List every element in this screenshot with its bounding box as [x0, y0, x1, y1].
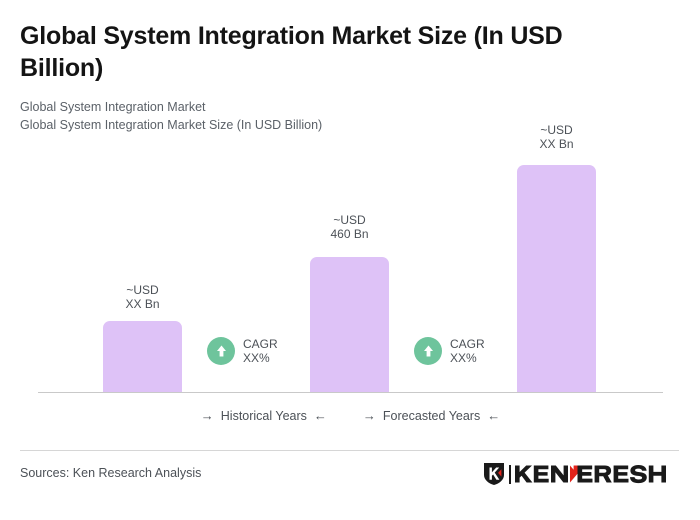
bar-value-label-2-line2: 460 Bn	[310, 227, 389, 241]
bar-value-label-2-line1: ~USD	[310, 213, 389, 227]
bar-1[interactable]	[103, 321, 182, 392]
logo-divider	[509, 465, 511, 484]
cagr-annotation-2: CAGR XX%	[414, 337, 485, 365]
arrow-right-icon: →	[363, 408, 376, 423]
bar-value-label-3: ~USD XX Bn	[517, 123, 596, 151]
bar-chart: ~USD XX Bn CAGR XX% ~USD 460 Bn CAGR XX%	[0, 0, 700, 400]
ken-research-wordmark	[515, 464, 667, 484]
cagr-label-2: CAGR XX%	[450, 337, 485, 365]
sources-text: Sources: Ken Research Analysis	[20, 466, 201, 480]
bar-value-label-1-line1: ~USD	[103, 283, 182, 297]
arrow-up-icon	[414, 337, 442, 365]
axis-baseline	[38, 392, 663, 393]
cagr-label-1-line1: CAGR	[243, 337, 278, 351]
cagr-label-1: CAGR XX%	[243, 337, 278, 365]
bar-value-label-1-line2: XX Bn	[103, 297, 182, 311]
bar-value-label-1: ~USD XX Bn	[103, 283, 182, 311]
period-forecasted: → Forecasted Years ←	[363, 408, 500, 423]
bar-2[interactable]	[310, 257, 389, 392]
bar-value-label-2: ~USD 460 Bn	[310, 213, 389, 241]
arrow-up-icon	[207, 337, 235, 365]
cagr-annotation-1: CAGR XX%	[207, 337, 278, 365]
period-forecasted-label: Forecasted Years	[383, 409, 480, 423]
bar-value-label-3-line2: XX Bn	[517, 137, 596, 151]
cagr-label-2-line2: XX%	[450, 351, 477, 365]
cagr-label-1-line2: XX%	[243, 351, 270, 365]
arrow-left-icon: ←	[314, 408, 327, 423]
arrow-right-icon: →	[201, 408, 214, 423]
arrow-left-icon: ←	[487, 408, 500, 423]
bar-3[interactable]	[517, 165, 596, 392]
period-legend: → Historical Years ← → Forecasted Years …	[38, 408, 663, 423]
ken-research-logo	[483, 462, 667, 486]
footer-divider	[20, 450, 679, 451]
period-historical-label: Historical Years	[221, 409, 307, 423]
ken-shield-icon	[483, 462, 505, 486]
bar-value-label-3-line1: ~USD	[517, 123, 596, 137]
cagr-label-2-line1: CAGR	[450, 337, 485, 351]
period-historical: → Historical Years ←	[201, 408, 327, 423]
